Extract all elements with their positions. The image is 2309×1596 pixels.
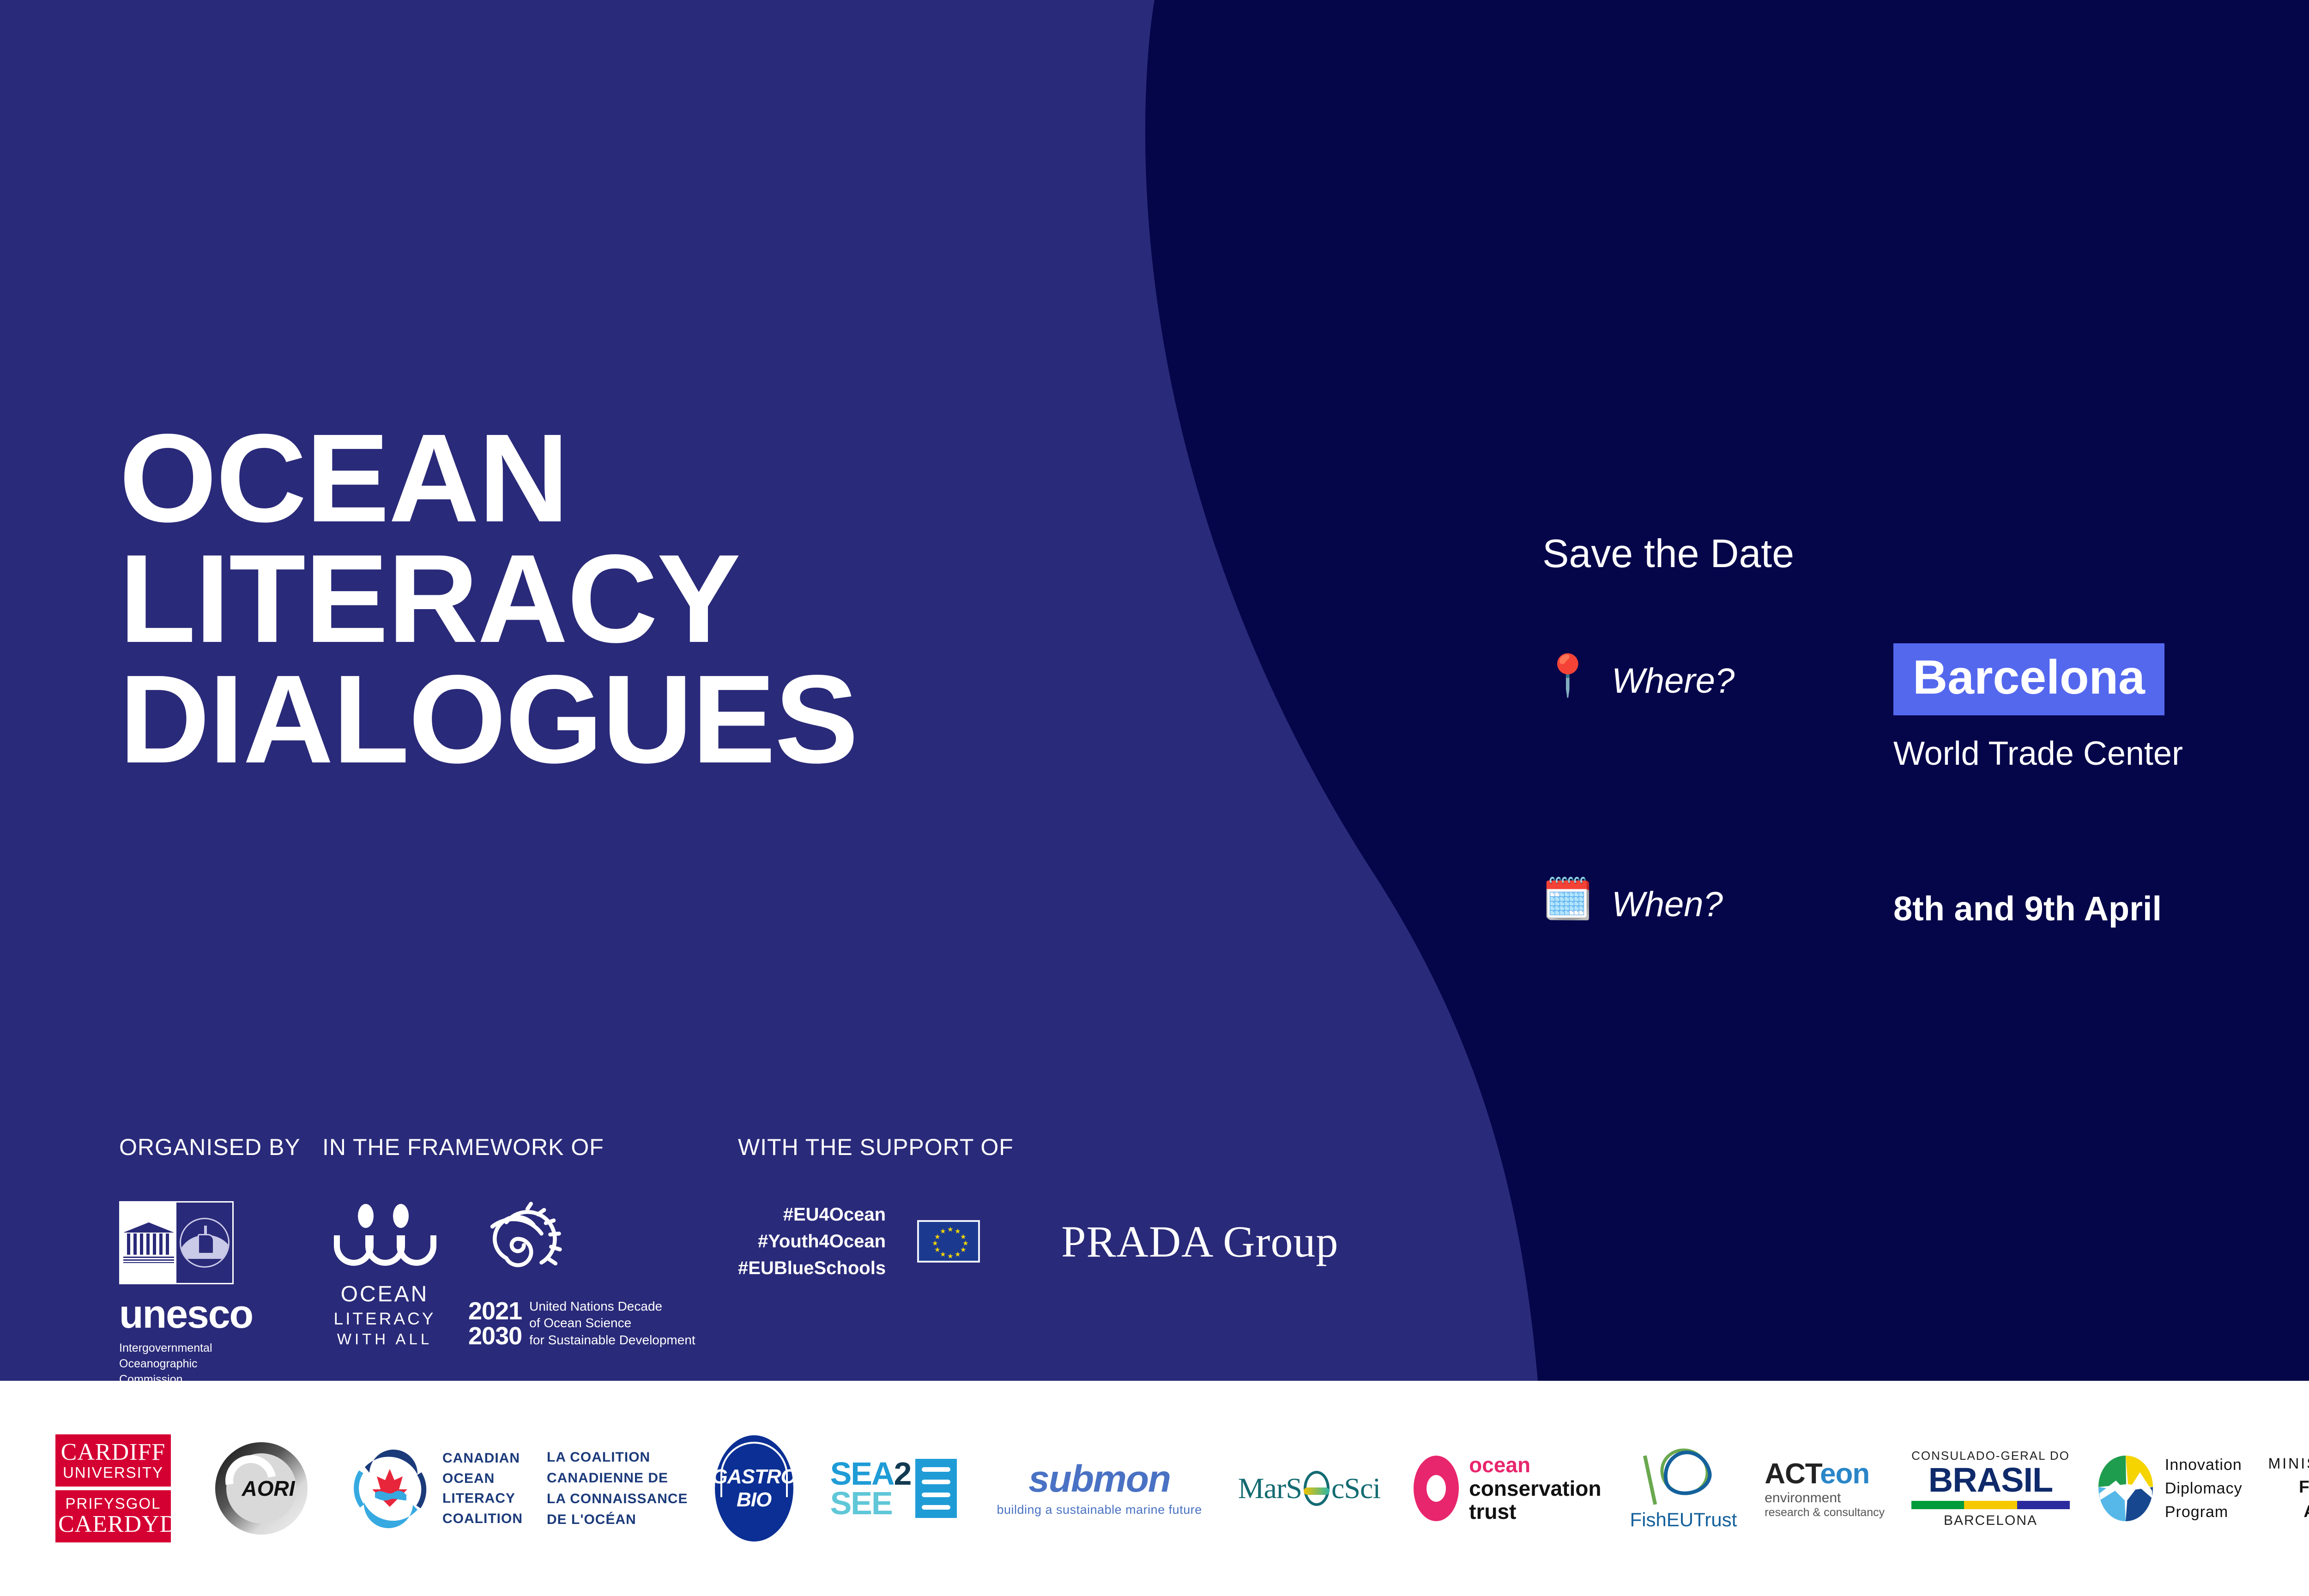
acteon-pre: ACT <box>1765 1458 1820 1490</box>
sea2see-line2: SEE <box>830 1488 911 1518</box>
sea2see-wave-icon <box>915 1459 957 1518</box>
partner-logo-cardiff-university[interactable]: CARDIFF UNIVERSITY PRIFYSGOL CAERDYDD <box>55 1434 171 1542</box>
brazil-flag-bar-icon <box>1911 1501 2070 1509</box>
credits-block: ORGANISED BY unesco Intergovernmental Oc… <box>119 1134 1338 1387</box>
consulado-line3: BARCELONA <box>1911 1513 2070 1529</box>
partner-logo-gastro-bio[interactable]: GASTRO BIO <box>715 1435 793 1542</box>
partner-logo-submon[interactable]: submon building a sustainable marine fut… <box>997 1460 1202 1517</box>
save-the-date-heading: Save the Date <box>1542 531 2183 577</box>
partner-logo-marsocsci[interactable]: MarS cSci <box>1238 1471 1380 1506</box>
fisheutrust-wordmark: FishEUTrust <box>1630 1509 1737 1531</box>
organised-by-group: ORGANISED BY unesco Intergovernmental Oc… <box>119 1134 322 1387</box>
colc-fr-text: LA COALITION CANADIENNE DE LA CONNAISSAN… <box>547 1447 688 1530</box>
ocean-decade-spiral-icon <box>476 1201 563 1289</box>
oct-line2: conservation <box>1469 1477 1601 1500</box>
partner-logo-sea2see[interactable]: SEA2 SEE <box>830 1459 957 1518</box>
partner-logo-coalition-canadienne[interactable]: LA COALITION CANADIENNE DE LA CONNAISSAN… <box>547 1447 688 1530</box>
unesco-emblem-icon <box>119 1201 234 1284</box>
left-column: OCEAN LITERACY DIALOGUES ORGANISED BY un… <box>0 0 1385 1381</box>
partner-logo-strip: CARDIFF UNIVERSITY PRIFYSGOL CAERDYDD AO… <box>0 1381 2309 1596</box>
when-label: When? <box>1612 879 1893 925</box>
support-label: WITH THE SUPPORT OF <box>738 1134 1338 1161</box>
when-row: 🗓️ When? 8th and 9th April <box>1542 879 2183 928</box>
fisheutrust-fish-icon <box>1646 1446 1720 1506</box>
campaign-hashtags: #EU4Ocean #Youth4Ocean #EUBlueSchools <box>738 1201 886 1282</box>
ioc-ship-icon <box>180 1218 230 1268</box>
partner-logo-innovation-diplomacy-program[interactable]: Innovation Diplomacy Program <box>2096 1453 2243 1524</box>
submon-wordmark: submon <box>997 1460 1202 1498</box>
oct-line1: ocean <box>1469 1453 1601 1477</box>
spiral-calendar-icon: 🗓️ <box>1542 879 1612 919</box>
event-details-panel: Save the Date 📍 Where? Barcelona World T… <box>1542 531 2183 928</box>
olwa-line1: OCEAN <box>334 1281 436 1308</box>
idp-globe-icon <box>2096 1454 2156 1523</box>
ocean-literacy-with-all-logo: OCEAN LITERACY WITH ALL <box>322 1204 447 1349</box>
framework-group: IN THE FRAMEWORK OF OCEAN LITERACY WITH … <box>322 1134 738 1348</box>
european-union-flag-icon: ★ ★ ★ ★ ★ ★ ★ ★ ★ ★ ★ ★ <box>917 1220 980 1263</box>
un-ocean-decade-logo: 2021 2030 United Nations Decade of Ocean… <box>468 1201 695 1348</box>
where-row: 📍 Where? Barcelona World Trade Center <box>1542 655 2183 773</box>
cardiff-line3: PRIFYSGOL <box>58 1496 168 1512</box>
organised-by-label: ORGANISED BY <box>119 1134 322 1161</box>
round-pushpin-icon: 📍 <box>1542 655 1612 696</box>
where-answer: Barcelona World Trade Center <box>1893 655 2183 773</box>
ocean-literacy-smile-icon <box>334 1204 435 1269</box>
partner-logo-fish-eu-trust[interactable]: FishEUTrust <box>1630 1446 1737 1531</box>
mfa-line1: MINISTRY OF <box>2268 1453 2309 1474</box>
oct-line3: trust <box>1469 1500 1601 1523</box>
decade-description: United Nations Decade of Ocean Science f… <box>529 1298 695 1348</box>
acteon-sub1: environment <box>1765 1490 1885 1506</box>
cardiff-line2: UNIVERSITY <box>58 1465 168 1481</box>
partner-logo-ministry-foreign-affairs[interactable]: MINISTRY OF FOREIGN AFFAIRS <box>2268 1453 2309 1524</box>
framework-label: IN THE FRAMEWORK OF <box>322 1134 738 1161</box>
event-info-grid: 📍 Where? Barcelona World Trade Center 🗓️… <box>1542 655 2183 928</box>
marsocsci-wave-icon <box>1304 1471 1330 1506</box>
acteon-post: eon <box>1820 1458 1869 1490</box>
submon-slogan: building a sustainable marine future <box>997 1503 1202 1517</box>
unesco-logo: unesco Intergovernmental Oceanographic C… <box>119 1201 234 1387</box>
olwa-line3: WITH ALL <box>334 1330 436 1348</box>
olwa-line2: LITERACY <box>334 1308 436 1330</box>
unesco-temple-icon <box>123 1222 174 1263</box>
idp-wordmark: Innovation Diplomacy Program <box>2165 1453 2243 1524</box>
partner-logo-consulado-brasil[interactable]: CONSULADO-GERAL DO BRASIL BARCELONA <box>1911 1449 2070 1529</box>
colc-text: CANADIAN OCEAN LITERACY COALITION <box>442 1448 523 1529</box>
colc-maple-wave-icon <box>348 1447 431 1530</box>
where-label: Where? <box>1612 655 1893 701</box>
poster-canvas: BARCELONA <box>0 0 2309 1596</box>
city-badge: Barcelona <box>1893 643 2164 715</box>
sea2see-two: 2 <box>894 1456 911 1492</box>
venue-name: World Trade Center <box>1893 735 2183 773</box>
consulado-line2: BRASIL <box>1911 1463 2070 1497</box>
cardiff-line1: CARDIFF <box>58 1440 168 1465</box>
marsocsci-post: cSci <box>1331 1471 1380 1505</box>
partner-logo-acteon[interactable]: ACTeon environment research & consultanc… <box>1765 1457 1885 1519</box>
partner-logo-canadian-ocean-literacy-coalition[interactable]: CANADIAN OCEAN LITERACY COALITION <box>348 1447 523 1530</box>
partner-logo-ocean-conservation-trust[interactable]: ocean conservation trust <box>1414 1453 1601 1523</box>
event-dates: 8th and 9th April <box>1893 879 2162 928</box>
marsocsci-pre: MarS <box>1238 1471 1302 1505</box>
decade-years: 2021 2030 <box>468 1299 522 1348</box>
mfa-line2: FOREIGN AFFAIRS <box>2268 1475 2309 1524</box>
oct-ring-icon <box>1414 1456 1459 1521</box>
prada-group-wordmark: PRADA Group <box>1061 1216 1338 1267</box>
partner-logo-aori[interactable]: AORI <box>215 1442 308 1535</box>
page-title: OCEAN LITERACY DIALOGUES <box>119 418 858 780</box>
unesco-wordmark: unesco <box>119 1294 234 1334</box>
cardiff-line4: CAERDYDD <box>58 1512 168 1537</box>
aori-wordmark: AORI <box>215 1442 308 1535</box>
support-group: WITH THE SUPPORT OF #EU4Ocean #Youth4Oce… <box>738 1134 1338 1282</box>
acteon-sub2: research & consultancy <box>1765 1506 1885 1519</box>
